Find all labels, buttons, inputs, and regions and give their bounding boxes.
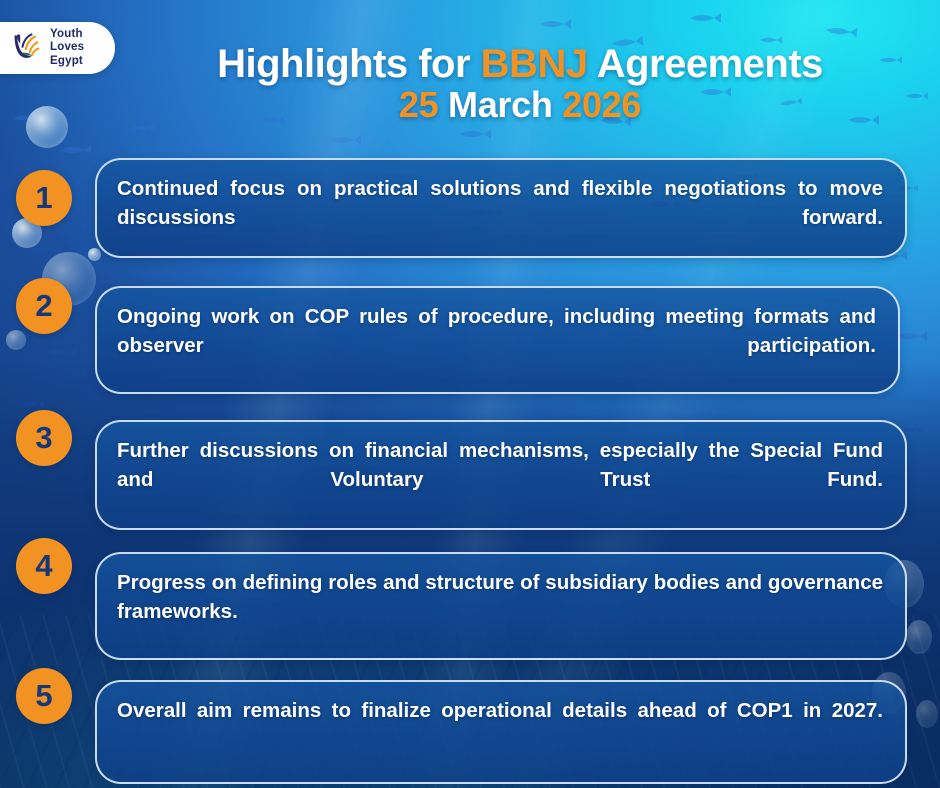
list-item: 2 Ongoing work on COP rules of procedure…	[0, 278, 940, 408]
list-item: 4 Progress on defining roles and structu…	[0, 538, 940, 668]
title-line: Highlights for BBNJ Agreements	[120, 44, 920, 85]
date-day: 25	[399, 84, 438, 125]
page-title: Highlights for BBNJ Agreements 25 March …	[120, 44, 920, 124]
brand-line-1: Youth	[50, 28, 84, 41]
brand-line-3: Egypt	[50, 55, 84, 68]
title-part-1: Highlights for	[217, 42, 481, 86]
item-card: Progress on defining roles and structure…	[95, 552, 907, 660]
item-number-badge: 4	[16, 538, 72, 594]
list-item: 1 Continued focus on practical solutions…	[0, 158, 940, 278]
brand-logo-text: Youth Loves Egypt	[50, 28, 84, 68]
bubble-decoration	[26, 106, 68, 148]
date-year: 2026	[562, 84, 641, 125]
item-number-badge: 1	[16, 170, 72, 226]
date-line: 25 March 2026	[120, 87, 920, 124]
item-card: Ongoing work on COP rules of procedure, …	[95, 286, 900, 394]
item-number-badge: 3	[16, 410, 72, 466]
infographic-poster: Youth Loves Egypt Highlights for BBNJ Ag…	[0, 0, 940, 788]
item-card: Continued focus on practical solutions a…	[95, 158, 907, 258]
item-number-badge: 5	[16, 668, 72, 724]
item-card: Overall aim remains to finalize operatio…	[95, 680, 907, 784]
item-card: Further discussions on financial mechani…	[95, 420, 907, 530]
list-item: 5 Overall aim remains to finalize operat…	[0, 668, 940, 788]
youth-loves-egypt-bird-logo-icon	[10, 31, 44, 65]
brand-line-2: Loves	[50, 41, 84, 54]
highlights-list: 1 Continued focus on practical solutions…	[0, 158, 940, 788]
list-item: 3 Further discussions on financial mecha…	[0, 408, 940, 538]
item-number-badge: 2	[16, 278, 72, 334]
brand-logo-pill[interactable]: Youth Loves Egypt	[0, 22, 115, 74]
title-accent-bbnj: BBNJ	[481, 42, 588, 86]
title-part-2: Agreements	[588, 42, 823, 86]
date-month: March	[438, 84, 562, 125]
